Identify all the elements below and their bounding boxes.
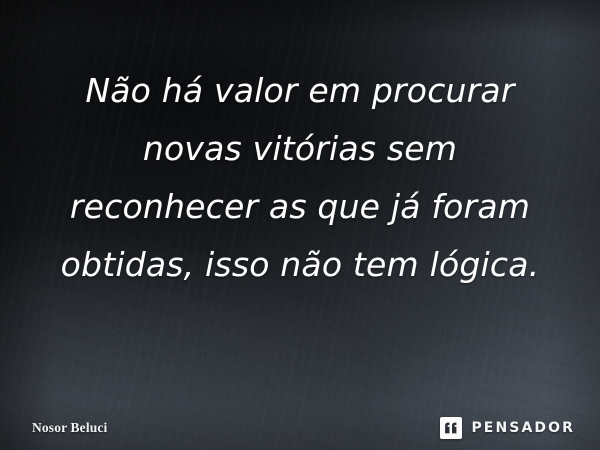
quotation-mark-icon (440, 417, 462, 439)
quote-card: Não há valor em procurar novas vitórias … (0, 0, 600, 450)
pensador-wordmark: PENSADOR (471, 420, 575, 436)
quote-line-2: novas vitórias sem (18, 120, 582, 178)
pensador-logo[interactable]: PENSADOR (440, 417, 575, 439)
quote-line-1: Não há valor em procurar (18, 62, 582, 120)
quote-line-3: reconhecer as que já foram (18, 178, 582, 236)
card-footer: Nosor Beluci PENSADOR (0, 394, 600, 450)
quote-line-4: obtidas, isso não tem lógica. (18, 236, 582, 294)
author-name[interactable]: Nosor Beluci (32, 420, 107, 436)
quote-text: Não há valor em procurar novas vitórias … (0, 62, 600, 294)
